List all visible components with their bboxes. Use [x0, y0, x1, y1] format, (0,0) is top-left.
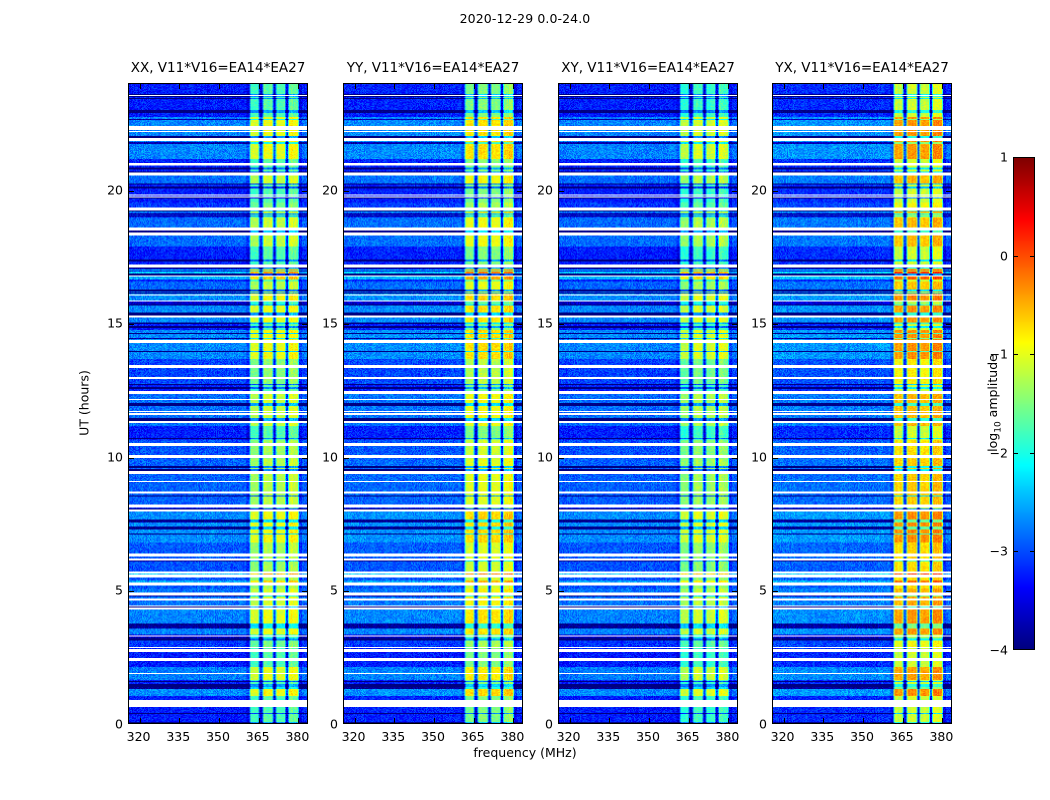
y-tick-mark: [946, 458, 951, 459]
colorbar-tick-mark: [1014, 256, 1018, 257]
x-tick-mark: [609, 718, 610, 723]
x-tick-label: 350: [636, 729, 660, 744]
y-tick-label: 10: [107, 449, 123, 464]
x-tick-mark: [219, 718, 220, 723]
x-tick-label: 320: [557, 729, 581, 744]
y-tick-mark: [344, 591, 349, 592]
x-tick-mark: [179, 718, 180, 723]
panel-title-xy: XY, V11*V16=EA14*EA27: [561, 60, 735, 76]
y-tick-mark: [946, 324, 951, 325]
x-tick-mark: [689, 84, 690, 89]
y-tick-mark: [129, 324, 134, 325]
x-tick-mark: [355, 84, 356, 89]
colorbar-tick-mark: [1030, 157, 1034, 158]
x-tick-mark: [219, 84, 220, 89]
y-tick-label: 0: [545, 717, 553, 732]
axes-yx[interactable]: [772, 83, 952, 724]
waterfall-image-yx: [773, 84, 951, 723]
x-tick-label: 350: [421, 729, 445, 744]
x-tick-mark: [609, 84, 610, 89]
x-tick-mark: [434, 84, 435, 89]
x-tick-label: 365: [246, 729, 270, 744]
colorbar-tick-mark: [1014, 354, 1018, 355]
y-tick-mark: [344, 324, 349, 325]
y-tick-mark: [344, 191, 349, 192]
x-tick-mark: [689, 718, 690, 723]
y-tick-label: 15: [751, 316, 767, 331]
x-tick-mark: [513, 718, 514, 723]
y-tick-label: 10: [322, 449, 338, 464]
x-tick-mark: [649, 718, 650, 723]
x-tick-mark: [784, 84, 785, 89]
y-tick-mark: [773, 458, 778, 459]
y-tick-mark: [302, 324, 307, 325]
x-tick-label: 350: [206, 729, 230, 744]
colorbar-label-tail: amplitude: [985, 354, 1000, 421]
x-tick-label: 365: [676, 729, 700, 744]
panel-xy[interactable]: XY, V11*V16=EA14*EA27 051015203203353503…: [558, 83, 738, 724]
x-tick-mark: [823, 84, 824, 89]
x-tick-label: 335: [810, 729, 834, 744]
y-tick-label: 5: [115, 583, 123, 598]
colorbar-tick-mark: [1014, 157, 1018, 158]
y-tick-mark: [302, 458, 307, 459]
y-tick-mark: [732, 324, 737, 325]
y-tick-label: 20: [107, 182, 123, 197]
x-tick-label: 335: [381, 729, 405, 744]
x-tick-label: 335: [596, 729, 620, 744]
x-tick-mark: [179, 84, 180, 89]
x-tick-mark: [513, 84, 514, 89]
y-tick-label: 15: [537, 316, 553, 331]
x-tick-mark: [474, 718, 475, 723]
colorbar-tick-label: −2: [990, 445, 1008, 460]
x-tick-mark: [434, 718, 435, 723]
y-tick-mark: [732, 591, 737, 592]
panel-title-xx: XX, V11*V16=EA14*EA27: [131, 60, 306, 76]
axes-yy[interactable]: [343, 83, 523, 724]
x-tick-mark: [649, 84, 650, 89]
waterfall-image-xx: [129, 84, 307, 723]
y-tick-mark: [773, 324, 778, 325]
y-tick-mark: [344, 458, 349, 459]
x-tick-mark: [355, 718, 356, 723]
colorbar-tick-mark: [1030, 256, 1034, 257]
y-tick-mark: [559, 591, 564, 592]
x-tick-mark: [942, 718, 943, 723]
x-tick-mark: [863, 718, 864, 723]
colorbar-tick-mark: [1030, 354, 1034, 355]
x-tick-mark: [394, 84, 395, 89]
x-tick-label: 380: [929, 729, 953, 744]
colorbar-tick-label: −4: [990, 643, 1008, 658]
x-tick-mark: [259, 718, 260, 723]
panel-title-yx: YX, V11*V16=EA14*EA27: [775, 60, 949, 76]
x-tick-label: 365: [890, 729, 914, 744]
x-tick-mark: [474, 84, 475, 89]
y-tick-mark: [517, 191, 522, 192]
waterfall-image-yy: [344, 84, 522, 723]
y-tick-label: 0: [759, 717, 767, 732]
y-tick-label: 0: [115, 717, 123, 732]
x-tick-mark: [728, 718, 729, 723]
x-tick-mark: [784, 718, 785, 723]
x-tick-label: 380: [500, 729, 524, 744]
x-tick-label: 320: [342, 729, 366, 744]
colorbar-label-subscript: 10: [993, 421, 1003, 432]
y-tick-label: 5: [545, 583, 553, 598]
x-tick-mark: [823, 718, 824, 723]
colorbar[interactable]: [1013, 157, 1035, 650]
colorbar-tick-label: −3: [990, 544, 1008, 559]
colorbar-tick-label: 1: [1000, 150, 1008, 165]
x-axis-label: frequency (MHz): [0, 745, 1050, 760]
y-tick-mark: [946, 191, 951, 192]
y-tick-label: 20: [537, 182, 553, 197]
x-tick-label: 350: [850, 729, 874, 744]
figure-suptitle: 2020-12-29 0.0-24.0: [0, 11, 1050, 26]
x-tick-mark: [140, 718, 141, 723]
x-tick-mark: [942, 84, 943, 89]
x-tick-mark: [903, 718, 904, 723]
y-tick-mark: [559, 191, 564, 192]
x-tick-mark: [728, 84, 729, 89]
y-tick-mark: [517, 324, 522, 325]
panel-title-yy: YY, V11*V16=EA14*EA27: [347, 60, 520, 76]
y-tick-label: 10: [537, 449, 553, 464]
y-tick-label: 20: [751, 182, 767, 197]
y-tick-label: 5: [759, 583, 767, 598]
waterfall-image-xy: [559, 84, 737, 723]
y-tick-label: 5: [330, 583, 338, 598]
x-tick-label: 380: [715, 729, 739, 744]
x-tick-mark: [570, 84, 571, 89]
x-tick-label: 380: [285, 729, 309, 744]
colorbar-tick-mark: [1014, 453, 1018, 454]
x-tick-mark: [298, 718, 299, 723]
x-tick-mark: [140, 84, 141, 89]
colorbar-tick-mark: [1014, 551, 1018, 552]
y-tick-mark: [732, 191, 737, 192]
y-tick-label: 10: [751, 449, 767, 464]
y-tick-mark: [732, 458, 737, 459]
y-tick-mark: [302, 591, 307, 592]
x-tick-mark: [570, 718, 571, 723]
x-tick-mark: [394, 718, 395, 723]
x-tick-label: 320: [127, 729, 151, 744]
y-tick-mark: [946, 591, 951, 592]
panel-xx[interactable]: XX, V11*V16=EA14*EA27 051015203203353503…: [128, 83, 308, 724]
colorbar-label: log10 amplitude: [985, 354, 1004, 452]
x-tick-mark: [259, 84, 260, 89]
colorbar-tick-mark: [1030, 551, 1034, 552]
x-tick-mark: [863, 84, 864, 89]
x-tick-label: 320: [771, 729, 795, 744]
y-tick-mark: [559, 324, 564, 325]
colorbar-tick-label: 0: [1000, 248, 1008, 263]
y-tick-label: 15: [107, 316, 123, 331]
y-tick-mark: [559, 458, 564, 459]
y-tick-mark: [129, 191, 134, 192]
y-tick-mark: [517, 591, 522, 592]
y-tick-mark: [129, 458, 134, 459]
colorbar-tick-label: −1: [990, 347, 1008, 362]
axes-xx[interactable]: [128, 83, 308, 724]
y-tick-label: 20: [322, 182, 338, 197]
y-axis-label: UT (hours): [77, 370, 92, 436]
x-tick-label: 365: [461, 729, 485, 744]
panel-yx[interactable]: YX, V11*V16=EA14*EA27 051015203203353503…: [772, 83, 952, 724]
y-tick-mark: [129, 591, 134, 592]
x-tick-mark: [903, 84, 904, 89]
panel-yy[interactable]: YY, V11*V16=EA14*EA27 051015203203353503…: [343, 83, 523, 724]
y-tick-mark: [773, 191, 778, 192]
y-tick-mark: [773, 591, 778, 592]
y-tick-mark: [517, 458, 522, 459]
x-tick-mark: [298, 84, 299, 89]
figure-canvas: 2020-12-29 0.0-24.0 XX, V11*V16=EA14*EA2…: [0, 0, 1050, 800]
axes-xy[interactable]: [558, 83, 738, 724]
colorbar-tick-mark: [1030, 453, 1034, 454]
x-tick-label: 335: [166, 729, 190, 744]
y-tick-label: 0: [330, 717, 338, 732]
y-tick-mark: [302, 191, 307, 192]
y-tick-label: 15: [322, 316, 338, 331]
